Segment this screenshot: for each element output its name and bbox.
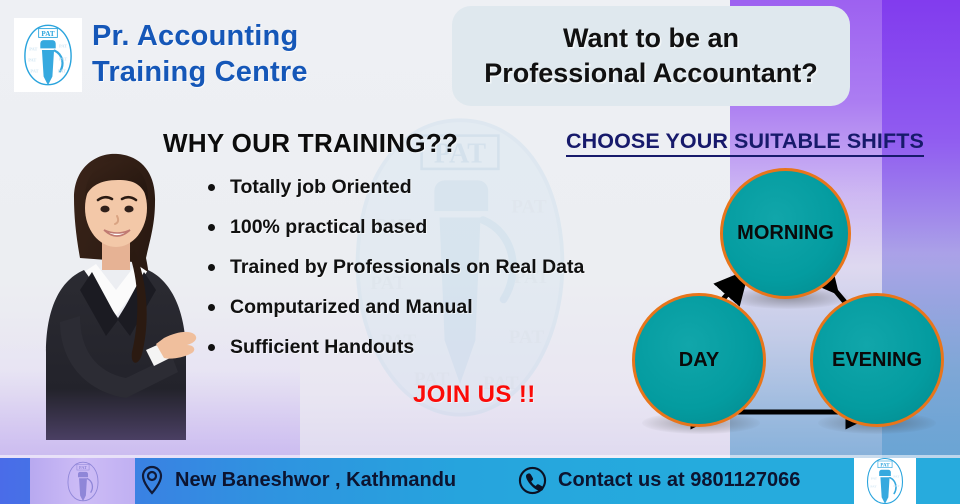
pat-pen-logo-icon: PAT <box>65 460 101 503</box>
businesswoman-photo <box>22 140 197 460</box>
footer-address: New Baneshwor , Kathmandu <box>140 465 456 495</box>
brand-line-2: Training Centre <box>92 54 308 90</box>
svg-text:PAT: PAT <box>28 58 36 63</box>
shift-circle-day[interactable]: DAY <box>632 293 766 427</box>
shifts-diagram: MORNING DAY EVENING <box>610 160 960 445</box>
svg-text:PAT: PAT <box>59 57 67 62</box>
shift-label-evening: EVENING <box>832 349 922 372</box>
footer-logo-panel-right: PAT PATPAT PATPAT <box>854 458 916 504</box>
headline-line-1: Want to be an <box>563 21 739 56</box>
svg-text:PAT: PAT <box>880 463 890 468</box>
svg-text:PAT: PAT <box>29 47 37 52</box>
brand-line-1: Pr. Accounting <box>92 18 308 54</box>
svg-text:PAT: PAT <box>79 464 87 469</box>
shift-circle-evening[interactable]: EVENING <box>810 293 944 427</box>
list-item: Totally job Oriented <box>200 175 670 200</box>
shift-label-morning: MORNING <box>737 222 834 245</box>
svg-text:PAT: PAT <box>30 69 38 74</box>
headline-line-2: Professional Accountant? <box>484 56 818 91</box>
list-item: 100% practical based <box>200 215 670 240</box>
footer-contact[interactable]: Contact us at 9801127066 <box>518 466 800 495</box>
list-item: Sufficient Handouts <box>200 335 670 360</box>
svg-text:PAT: PAT <box>893 484 900 488</box>
location-pin-icon <box>140 465 164 495</box>
join-us-cta[interactable]: JOIN US !! <box>413 381 536 409</box>
svg-text:PAT: PAT <box>893 475 900 479</box>
pat-pen-logo-icon: PAT PATPAT PATPAT PATPAT <box>19 22 77 88</box>
svg-text:PAT: PAT <box>58 69 66 74</box>
benefits-list: Totally job Oriented 100% practical base… <box>200 175 670 375</box>
svg-text:PAT: PAT <box>59 43 67 48</box>
headline-box: Want to be an Professional Accountant? <box>452 6 850 106</box>
list-item: Trained by Professionals on Real Data <box>200 255 670 280</box>
svg-text:PAT: PAT <box>870 485 877 489</box>
svg-text:PAT: PAT <box>41 30 54 38</box>
shifts-heading: CHOOSE YOUR SUITABLE SHIFTS <box>566 129 924 157</box>
page-title: WHY OUR TRAINING?? <box>163 128 458 159</box>
footer-address-text: New Baneshwor , Kathmandu <box>175 469 456 492</box>
promo-banner: PAT PATPAT PATPAT PATPAT PATPAT PAT PATP… <box>0 0 960 504</box>
brand-logo-box: PAT PATPAT PATPAT PATPAT <box>14 18 82 92</box>
shift-circle-morning[interactable]: MORNING <box>720 168 851 299</box>
brand-name: Pr. Accounting Training Centre <box>92 18 308 90</box>
footer-logo-panel-left: PAT <box>30 458 135 504</box>
footer-contact-text: Contact us at 9801127066 <box>558 469 800 492</box>
phone-icon <box>518 466 547 495</box>
shift-label-day: DAY <box>679 349 719 372</box>
svg-text:PAT: PAT <box>871 476 878 480</box>
list-item: Computarized and Manual <box>200 295 670 320</box>
pat-pen-logo-icon: PAT PATPAT PATPAT <box>864 456 906 504</box>
